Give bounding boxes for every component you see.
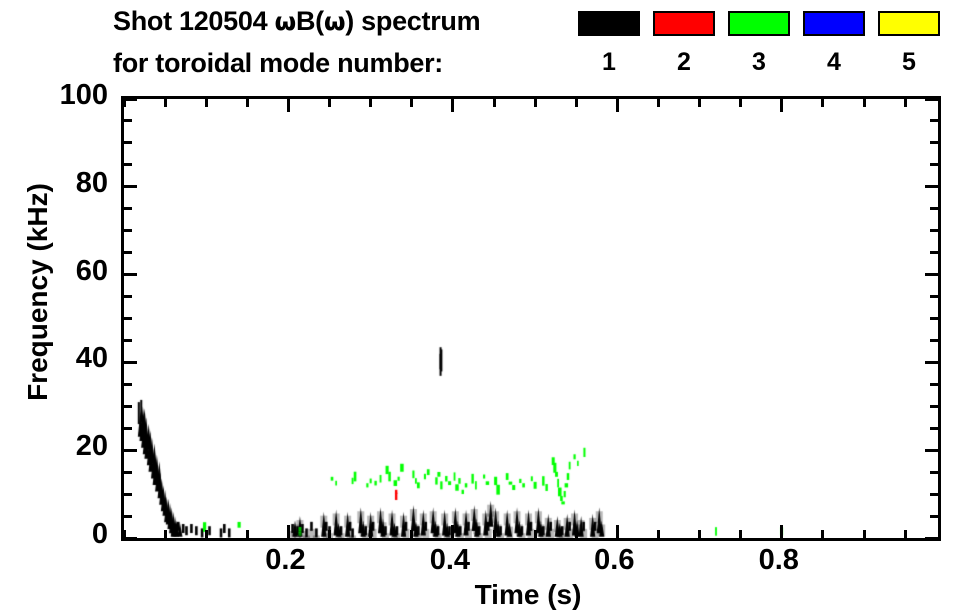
x-tick-label-0.4: 0.4	[430, 546, 470, 575]
legend-item-1: 1	[578, 11, 640, 75]
y-tick-right-5	[930, 515, 938, 518]
legend-label-1: 1	[578, 50, 640, 75]
x-tick-bottom-0.65	[657, 530, 660, 538]
x-tick-bottom-0.85	[821, 530, 824, 538]
y-tick-right-20	[925, 449, 938, 452]
legend-label-5: 5	[878, 50, 940, 75]
y-axis-tick-labels: 020406080100	[0, 96, 108, 535]
x-tick-bottom-0.45	[493, 530, 496, 538]
y-tick-right-70	[930, 229, 938, 232]
spectrum-plot-figure: Shot 120504 ωB(ω) spectrum for toroidal …	[0, 0, 963, 615]
y-tick-left-85	[124, 163, 132, 166]
y-tick-left-95	[124, 119, 132, 122]
y-tick-label-20: 20	[76, 432, 108, 461]
legend: 12345	[578, 11, 950, 91]
x-tick-label-0.2: 0.2	[265, 546, 305, 575]
x-tick-top-0.5	[534, 99, 537, 107]
title-suffix: ) spectrum	[345, 6, 480, 36]
y-tick-left-5	[124, 515, 132, 518]
y-tick-right-35	[930, 383, 938, 386]
x-tick-bottom-0.3	[369, 530, 372, 538]
y-tick-label-0: 0	[92, 520, 108, 549]
x-tick-bottom-0.8	[780, 525, 783, 538]
x-tick-top-0.3	[369, 99, 372, 107]
y-tick-right-75	[930, 207, 938, 210]
y-tick-label-100: 100	[60, 81, 108, 110]
x-tick-top-0.05	[164, 99, 167, 107]
x-tick-bottom-0.1	[205, 530, 208, 538]
legend-item-4: 4	[803, 11, 865, 75]
y-tick-left-25	[124, 427, 132, 430]
legend-item-5: 5	[878, 11, 940, 75]
y-tick-right-80	[925, 185, 938, 188]
y-tick-left-0	[124, 537, 137, 540]
y-tick-left-10	[124, 493, 132, 496]
data-canvas	[124, 99, 938, 538]
x-tick-bottom-0.2	[287, 525, 290, 538]
x-tick-top-0.55	[575, 99, 578, 107]
title-prefix: Shot 120504	[113, 6, 275, 36]
legend-label-4: 4	[803, 50, 865, 75]
legend-label-2: 2	[653, 50, 715, 75]
y-tick-right-30	[930, 405, 938, 408]
x-tick-top-0.1	[205, 99, 208, 107]
x-tick-bottom-0.55	[575, 530, 578, 538]
x-tick-top-0.75	[739, 99, 742, 107]
figure-title-line-1: Shot 120504 ωB(ω) spectrum	[113, 6, 480, 37]
legend-item-3: 3	[728, 11, 790, 75]
x-tick-bottom-0.6	[616, 525, 619, 538]
x-tick-bottom-0.35	[410, 530, 413, 538]
omega-symbol-2: ω	[324, 7, 345, 36]
legend-item-2: 2	[653, 11, 715, 75]
x-tick-bottom-0.75	[739, 530, 742, 538]
x-tick-top-0.65	[657, 99, 660, 107]
x-tick-bottom-0.4	[451, 525, 454, 538]
x-tick-top-0.7	[698, 99, 701, 107]
x-tick-top-0.2	[287, 99, 290, 112]
x-tick-top-0.4	[451, 99, 454, 112]
legend-swatch-3	[728, 11, 790, 36]
y-tick-label-40: 40	[76, 344, 108, 373]
x-tick-top-0.25	[328, 99, 331, 107]
x-tick-top-0.95	[904, 99, 907, 107]
y-tick-left-50	[124, 317, 132, 320]
y-tick-left-60	[124, 273, 137, 276]
omega-symbol-1: ω	[275, 7, 296, 36]
x-tick-top-0.6	[616, 99, 619, 112]
x-tick-top-0.35	[410, 99, 413, 107]
y-axis-title: Frequency (kHz)	[24, 162, 52, 422]
y-tick-label-80: 80	[76, 169, 108, 198]
x-tick-bottom-0.15	[246, 530, 249, 538]
y-tick-left-45	[124, 339, 132, 342]
y-tick-left-100	[124, 98, 137, 101]
y-tick-right-10	[930, 493, 938, 496]
legend-label-3: 3	[728, 50, 790, 75]
y-tick-left-70	[124, 229, 132, 232]
legend-swatch-2	[653, 11, 715, 36]
y-tick-right-50	[930, 317, 938, 320]
x-tick-top-0.9	[863, 99, 866, 107]
legend-swatch-4	[803, 11, 865, 36]
legend-swatch-5	[878, 11, 940, 36]
y-tick-left-15	[124, 471, 132, 474]
figure-title-line-2: for toroidal mode number:	[113, 48, 443, 79]
y-tick-left-55	[124, 295, 132, 298]
x-axis-tick-labels: 0.20.40.60.8	[121, 546, 935, 580]
x-tick-bottom-0.9	[863, 530, 866, 538]
plot-frame	[121, 96, 941, 541]
y-tick-right-85	[930, 163, 938, 166]
y-tick-left-90	[124, 141, 132, 144]
y-tick-right-90	[930, 141, 938, 144]
y-tick-left-75	[124, 207, 132, 210]
y-tick-label-60: 60	[76, 257, 108, 286]
x-tick-top-0	[123, 99, 126, 107]
x-tick-label-0.8: 0.8	[759, 546, 799, 575]
y-tick-left-40	[124, 361, 137, 364]
y-tick-right-95	[930, 119, 938, 122]
y-tick-right-45	[930, 339, 938, 342]
y-tick-left-30	[124, 405, 132, 408]
x-axis-title: Time (s)	[121, 581, 935, 609]
y-tick-right-0	[925, 537, 938, 540]
x-tick-top-0.85	[821, 99, 824, 107]
x-tick-bottom-0.95	[904, 530, 907, 538]
x-tick-label-0.6: 0.6	[594, 546, 634, 575]
y-tick-left-20	[124, 449, 137, 452]
title-mid: B(	[296, 6, 324, 36]
y-tick-right-40	[925, 361, 938, 364]
y-tick-right-55	[930, 295, 938, 298]
x-tick-bottom-0.05	[164, 530, 167, 538]
y-tick-right-100	[925, 98, 938, 101]
x-tick-bottom-0.25	[328, 530, 331, 538]
y-tick-right-60	[925, 273, 938, 276]
x-tick-top-0.8	[780, 99, 783, 112]
y-tick-right-65	[930, 251, 938, 254]
y-tick-left-65	[124, 251, 132, 254]
y-tick-right-25	[930, 427, 938, 430]
x-tick-bottom-0.5	[534, 530, 537, 538]
y-tick-right-15	[930, 471, 938, 474]
y-tick-left-35	[124, 383, 132, 386]
x-tick-top-0.45	[493, 99, 496, 107]
y-tick-left-80	[124, 185, 137, 188]
x-tick-top-0.15	[246, 99, 249, 107]
legend-swatch-1	[578, 11, 640, 36]
x-tick-bottom-0.7	[698, 530, 701, 538]
x-tick-bottom-0	[123, 530, 126, 538]
